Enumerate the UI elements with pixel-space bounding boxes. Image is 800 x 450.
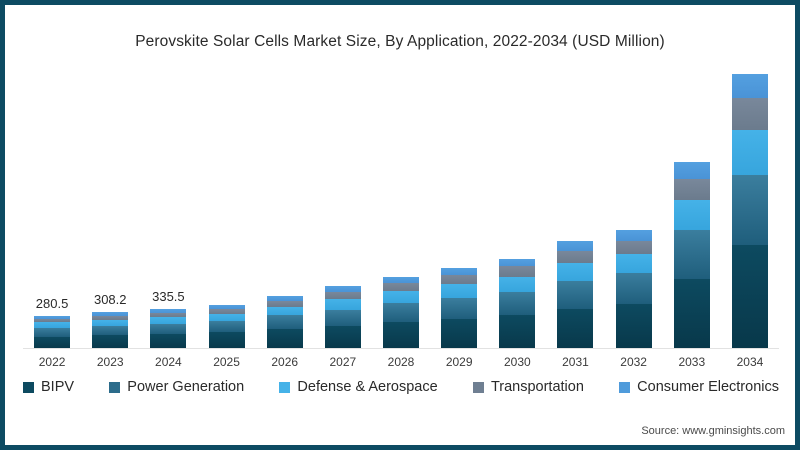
legend-item-bipv[interactable]: BIPV	[23, 379, 74, 395]
bar-segment-defense-aerospace[interactable]	[325, 299, 361, 309]
bar-segment-transportation[interactable]	[499, 266, 535, 276]
bar-segment-power-generation[interactable]	[209, 321, 245, 332]
bar-segment-bipv[interactable]	[209, 332, 245, 349]
legend-swatch-icon	[23, 382, 34, 393]
legend-item-defense-aerospace[interactable]: Defense & Aerospace	[279, 379, 437, 395]
bar-segment-power-generation[interactable]	[441, 298, 477, 319]
legend-item-consumer-electronics[interactable]: Consumer Electronics	[619, 379, 779, 395]
bar-segment-bipv[interactable]	[383, 322, 419, 349]
bar-column-2027[interactable]	[314, 75, 372, 349]
bar-group: 280.5308.2335.5	[23, 75, 779, 349]
bar-segment-defense-aerospace[interactable]	[557, 263, 593, 281]
bar-segment-power-generation[interactable]	[674, 230, 710, 278]
bar-segment-bipv[interactable]	[150, 334, 186, 349]
bar-segment-power-generation[interactable]	[557, 281, 593, 309]
bar-segment-bipv[interactable]	[732, 245, 768, 349]
bar-segment-transportation[interactable]	[674, 179, 710, 200]
bar-segment-power-generation[interactable]	[92, 326, 128, 335]
x-tick-2025: 2025	[197, 351, 255, 373]
x-tick-2023: 2023	[81, 351, 139, 373]
bar-segment-power-generation[interactable]	[732, 175, 768, 246]
x-tick-2026: 2026	[256, 351, 314, 373]
bar-column-2029[interactable]	[430, 75, 488, 349]
bar-column-2022[interactable]: 280.5	[23, 75, 81, 349]
bar-segment-bipv[interactable]	[92, 335, 128, 349]
x-tick-2030: 2030	[488, 351, 546, 373]
bar-segment-consumer-electronics[interactable]	[616, 230, 652, 241]
x-tick-2024: 2024	[139, 351, 197, 373]
bar-column-2034[interactable]	[721, 75, 779, 349]
bar-column-2033[interactable]	[663, 75, 721, 349]
bar-segment-bipv[interactable]	[499, 315, 535, 349]
x-tick-2032: 2032	[605, 351, 663, 373]
bar-stack[interactable]	[499, 259, 535, 350]
bar-stack[interactable]	[441, 268, 477, 349]
legend-swatch-icon	[473, 382, 484, 393]
chart-legend: BIPVPower GenerationDefense & AerospaceT…	[23, 379, 783, 395]
x-tick-2028: 2028	[372, 351, 430, 373]
bar-segment-transportation[interactable]	[383, 283, 419, 291]
chart-title: Perovskite Solar Cells Market Size, By A…	[5, 33, 795, 51]
bar-segment-transportation[interactable]	[732, 98, 768, 129]
legend-label: BIPV	[41, 379, 74, 395]
x-tick-2034: 2034	[721, 351, 779, 373]
bar-segment-bipv[interactable]	[267, 329, 303, 349]
bar-value-label: 280.5	[36, 296, 69, 311]
legend-label: Transportation	[491, 379, 584, 395]
bar-stack[interactable]	[616, 230, 652, 349]
bar-value-label: 308.2	[94, 292, 127, 307]
bar-column-2030[interactable]	[488, 75, 546, 349]
bar-segment-power-generation[interactable]	[383, 303, 419, 322]
bar-segment-defense-aerospace[interactable]	[674, 200, 710, 231]
bar-segment-transportation[interactable]	[616, 241, 652, 255]
bar-segment-bipv[interactable]	[557, 309, 593, 350]
bar-segment-consumer-electronics[interactable]	[732, 74, 768, 98]
bar-segment-defense-aerospace[interactable]	[209, 314, 245, 321]
chart-frame: Perovskite Solar Cells Market Size, By A…	[0, 0, 800, 450]
bar-segment-consumer-electronics[interactable]	[499, 259, 535, 267]
legend-swatch-icon	[619, 382, 630, 393]
bar-segment-power-generation[interactable]	[616, 273, 652, 304]
bar-stack[interactable]	[267, 296, 303, 349]
x-tick-2029: 2029	[430, 351, 488, 373]
bar-stack[interactable]	[325, 286, 361, 349]
x-tick-2033: 2033	[663, 351, 721, 373]
bar-segment-bipv[interactable]	[616, 304, 652, 349]
legend-item-power-generation[interactable]: Power Generation	[109, 379, 244, 395]
bar-stack[interactable]	[674, 162, 710, 349]
legend-label: Consumer Electronics	[637, 379, 779, 395]
bar-segment-power-generation[interactable]	[325, 310, 361, 326]
bar-segment-power-generation[interactable]	[267, 315, 303, 329]
bar-column-2032[interactable]	[605, 75, 663, 349]
legend-swatch-icon	[279, 382, 290, 393]
bar-column-2028[interactable]	[372, 75, 430, 349]
bar-segment-power-generation[interactable]	[34, 328, 70, 337]
bar-segment-defense-aerospace[interactable]	[732, 130, 768, 175]
bar-stack[interactable]: 280.5	[34, 316, 70, 349]
bar-column-2023[interactable]: 308.2	[81, 75, 139, 349]
chart-canvas: Perovskite Solar Cells Market Size, By A…	[5, 5, 795, 445]
x-tick-2022: 2022	[23, 351, 81, 373]
bar-segment-defense-aerospace[interactable]	[499, 277, 535, 292]
bar-segment-transportation[interactable]	[557, 251, 593, 263]
bar-stack[interactable]	[557, 241, 593, 349]
bar-segment-transportation[interactable]	[325, 292, 361, 299]
bar-segment-bipv[interactable]	[325, 326, 361, 349]
bar-stack[interactable]: 308.2	[92, 312, 128, 349]
x-tick-2031: 2031	[546, 351, 604, 373]
bar-segment-defense-aerospace[interactable]	[441, 284, 477, 297]
axis-baseline	[23, 348, 779, 349]
bar-segment-consumer-electronics[interactable]	[674, 162, 710, 179]
bar-segment-transportation[interactable]	[441, 275, 477, 284]
bar-segment-consumer-electronics[interactable]	[441, 268, 477, 275]
bar-segment-bipv[interactable]	[674, 279, 710, 349]
bar-stack[interactable]	[383, 277, 419, 349]
bar-column-2025[interactable]	[197, 75, 255, 349]
plot-area: 280.5308.2335.5	[23, 75, 779, 349]
legend-label: Power Generation	[127, 379, 244, 395]
bar-column-2031[interactable]	[546, 75, 604, 349]
bar-column-2024[interactable]: 335.5	[139, 75, 197, 349]
legend-item-transportation[interactable]: Transportation	[473, 379, 584, 395]
bar-stack[interactable]: 335.5	[150, 309, 186, 349]
x-tick-2027: 2027	[314, 351, 372, 373]
bar-value-label: 335.5	[152, 289, 185, 304]
bar-segment-bipv[interactable]	[441, 319, 477, 350]
legend-label: Defense & Aerospace	[297, 379, 437, 395]
bar-segment-power-generation[interactable]	[150, 324, 186, 334]
source-attribution: Source: www.gminsights.com	[641, 425, 785, 437]
bar-segment-power-generation[interactable]	[499, 292, 535, 315]
bar-column-2026[interactable]	[256, 75, 314, 349]
bar-segment-defense-aerospace[interactable]	[616, 254, 652, 273]
bar-stack[interactable]	[732, 74, 768, 349]
x-axis-tick-labels: 2022202320242025202620272028202920302031…	[23, 351, 779, 373]
bar-segment-defense-aerospace[interactable]	[383, 291, 419, 303]
legend-swatch-icon	[109, 382, 120, 393]
bar-segment-consumer-electronics[interactable]	[557, 241, 593, 251]
bar-segment-defense-aerospace[interactable]	[267, 307, 303, 316]
bar-stack[interactable]	[209, 305, 245, 349]
